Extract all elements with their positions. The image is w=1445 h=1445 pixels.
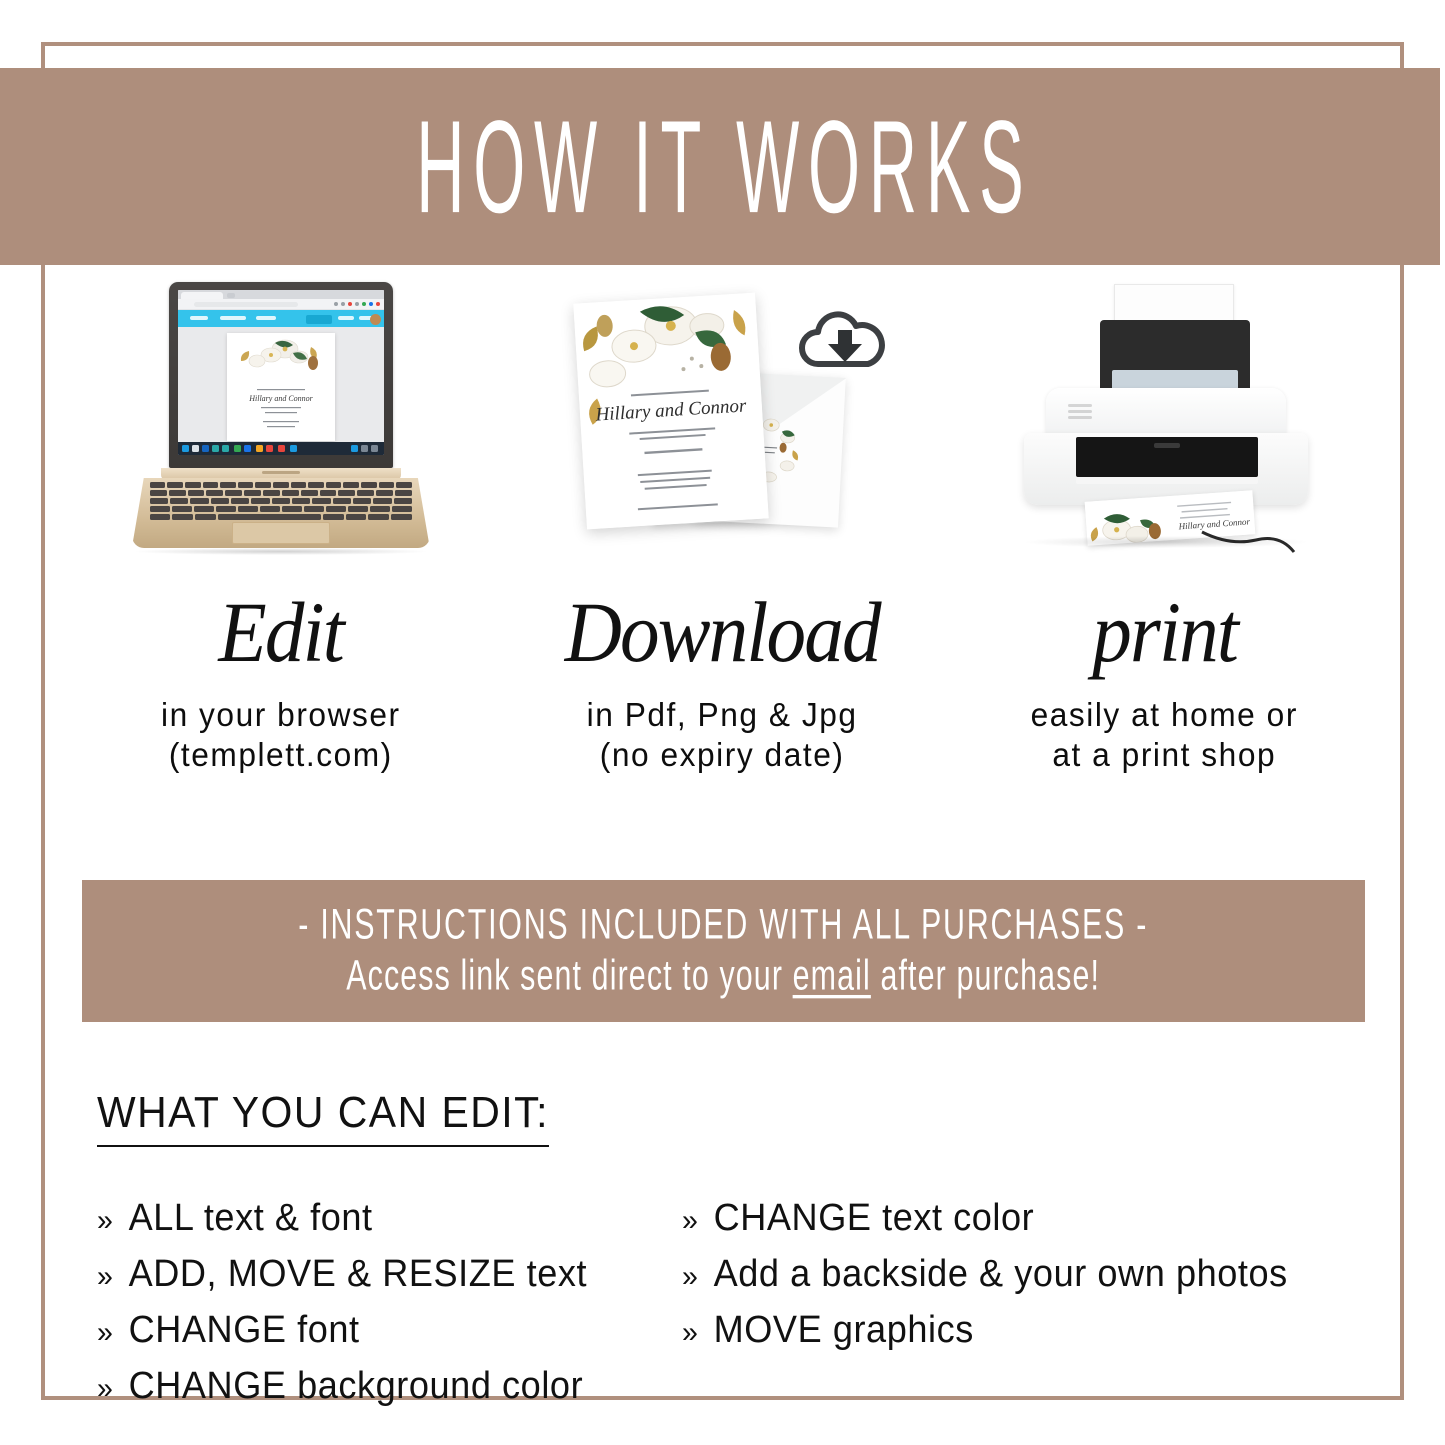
- printer-output-lip: [1076, 477, 1258, 484]
- printer-body: [1024, 433, 1308, 505]
- printer-shadow: [1026, 536, 1306, 548]
- invitation-preview: Hillary and Connor: [227, 333, 335, 441]
- edit-item-label: ADD, MOVE & RESIZE text: [129, 1253, 587, 1296]
- svg-text:Hillary and Connor: Hillary and Connor: [248, 394, 313, 403]
- title-banner: HOW IT WORKS: [0, 68, 1440, 265]
- caption-line-2: at a print shop: [1030, 735, 1297, 775]
- download-cloud-icon: [794, 302, 886, 374]
- double-chevron-icon: »: [682, 1316, 698, 1350]
- step-print: Hillary and Connor print easily at home …: [943, 278, 1385, 808]
- caption-line-2: (no expiry date): [587, 735, 858, 775]
- caption-line-1: in your browser: [161, 695, 401, 735]
- printer-paper-tray: [1100, 320, 1250, 394]
- double-chevron-icon: »: [97, 1260, 113, 1294]
- edit-item: » ADD, MOVE & RESIZE text: [97, 1253, 653, 1296]
- edit-item-label: ALL text & font: [129, 1197, 373, 1240]
- edit-item-label: CHANGE background color: [129, 1365, 584, 1408]
- caption-line-1: easily at home or: [1030, 695, 1297, 735]
- templett-app-toolbar: [178, 310, 384, 328]
- caption-line-2: (templett.com): [161, 735, 401, 775]
- laptop-device: Hillary and Connor: [128, 282, 434, 554]
- user-avatar: [370, 314, 381, 325]
- browser-tab: [181, 292, 223, 299]
- edit-item: » CHANGE background color: [97, 1365, 653, 1408]
- caption-line-1: in Pdf, Png & Jpg: [587, 695, 858, 735]
- laptop-shadow: [136, 548, 426, 555]
- printer-output-slot: [1076, 437, 1258, 477]
- invitation-group: Hillary and Connor: [558, 278, 888, 558]
- step-caption-download: in Pdf, Png & Jpg (no expiry date): [587, 695, 858, 776]
- browser-extension-icons: [334, 302, 380, 306]
- edit-items-columns: » ALL text & font » ADD, MOVE & RESIZE t…: [97, 1197, 1387, 1421]
- edit-item: » ALL text & font: [97, 1197, 653, 1240]
- laptop-illustration: Hillary and Connor: [60, 278, 502, 563]
- printer-brand-logo-icon: [1068, 404, 1092, 424]
- poster-canvas: HOW IT WORKS: [0, 0, 1445, 1445]
- edit-item: » Add a backside & your own photos: [682, 1253, 1238, 1296]
- laptop-trackpad: [232, 522, 330, 544]
- printer-device: Hillary and Connor: [994, 278, 1334, 563]
- step-edit: Hillary and Connor: [60, 278, 502, 808]
- edit-item: » CHANGE font: [97, 1309, 653, 1352]
- step-download: Hillary and Connor Download in Pdf, Png …: [502, 278, 944, 808]
- instructions-headline: - INSTRUCTIONS INCLUDED WITH ALL PURCHAS…: [299, 901, 1149, 949]
- browser-url-field: [194, 302, 298, 307]
- email-link[interactable]: email: [793, 952, 871, 999]
- step-script-label-print: print: [1092, 569, 1237, 695]
- double-chevron-icon: »: [682, 1204, 698, 1238]
- invitation-card-art: Hillary and Connor: [573, 293, 768, 530]
- instructions-subline-before: Access link sent direct to your: [347, 952, 793, 999]
- steps-row: Hillary and Connor: [60, 278, 1385, 808]
- what-you-can-edit-section: WHAT YOU CAN EDIT: » ALL text & font » A…: [97, 1088, 1387, 1421]
- laptop-screen: Hillary and Connor: [178, 290, 384, 455]
- edit-item-label: CHANGE font: [129, 1309, 360, 1352]
- double-chevron-icon: »: [682, 1260, 698, 1294]
- step-caption-print: easily at home or at a print shop: [1030, 695, 1297, 776]
- edit-item-label: Add a backside & your own photos: [714, 1253, 1288, 1296]
- invitation-card: Hillary and Connor: [573, 293, 768, 530]
- double-chevron-icon: »: [97, 1372, 113, 1406]
- edit-items-right-column: » CHANGE text color » Add a backside & y…: [682, 1197, 1267, 1421]
- printer-illustration: Hillary and Connor: [943, 278, 1385, 563]
- step-script-label-download: Download: [565, 569, 880, 695]
- edit-item-label: MOVE graphics: [714, 1309, 974, 1352]
- invitation-floral-art: Hillary and Connor: [227, 333, 335, 441]
- edit-section-title: WHAT YOU CAN EDIT:: [97, 1088, 549, 1147]
- laptop-lid: Hillary and Connor: [169, 282, 393, 468]
- windows-taskbar: [178, 442, 384, 455]
- step-script-label-edit: Edit: [219, 569, 344, 695]
- invitation-illustration: Hillary and Connor: [502, 278, 944, 563]
- edit-item: » MOVE graphics: [682, 1309, 1238, 1352]
- instructions-subline-after: after purchase!: [871, 952, 1100, 999]
- instructions-subline: Access link sent direct to your email af…: [347, 952, 1101, 1000]
- step-caption-edit: in your browser (templett.com): [161, 695, 401, 776]
- double-chevron-icon: »: [97, 1204, 113, 1238]
- page-title: HOW IT WORKS: [408, 101, 1033, 233]
- edit-items-left-column: » ALL text & font » ADD, MOVE & RESIZE t…: [97, 1197, 682, 1421]
- browser-new-tab-icon: [227, 293, 235, 298]
- browser-tab-strip: [178, 290, 384, 299]
- edit-item: » CHANGE text color: [682, 1197, 1238, 1240]
- laptop-keyboard: [150, 482, 412, 520]
- browser-address-bar: [178, 299, 384, 310]
- double-chevron-icon: »: [97, 1316, 113, 1350]
- editor-canvas-area: Hillary and Connor: [178, 327, 384, 442]
- instructions-banner: - INSTRUCTIONS INCLUDED WITH ALL PURCHAS…: [82, 880, 1365, 1022]
- edit-item-label: CHANGE text color: [714, 1197, 1035, 1240]
